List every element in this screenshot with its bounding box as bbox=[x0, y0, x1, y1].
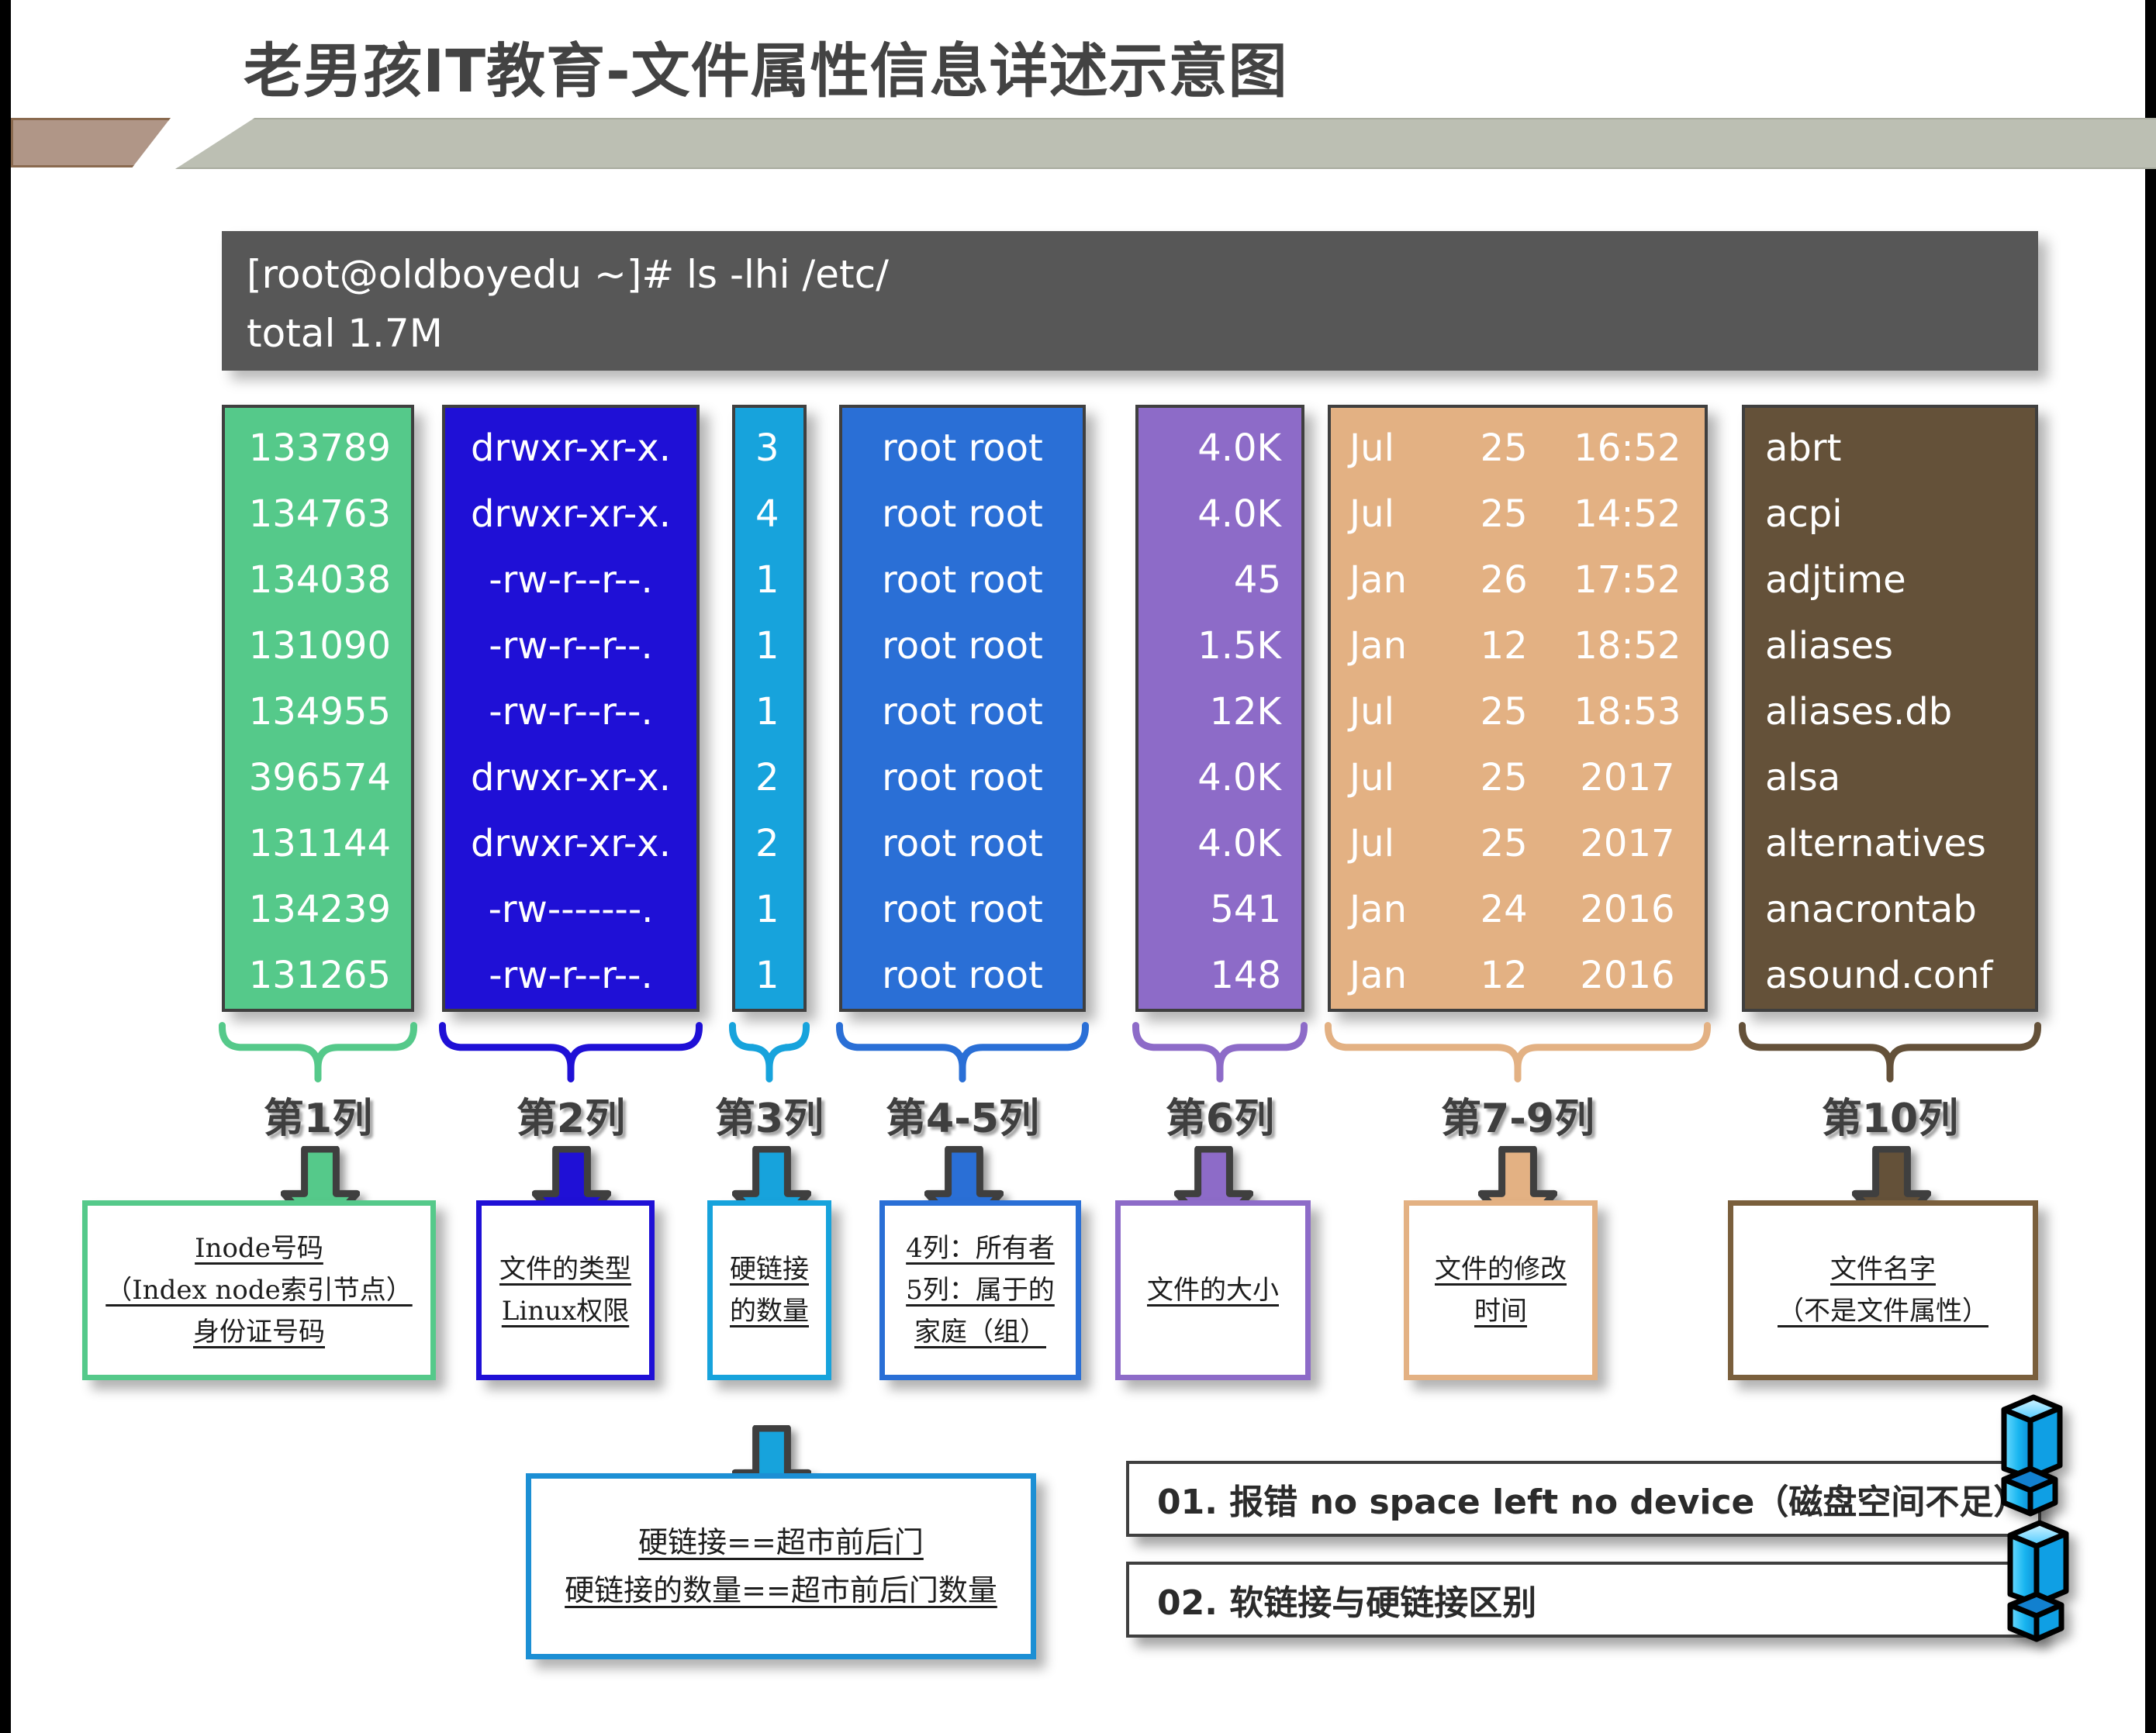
table-row: 4.0K bbox=[1138, 416, 1301, 482]
note-bar-02: 02. 软链接与硬链接区别 bbox=[1126, 1562, 2041, 1638]
table-row: acpi bbox=[1745, 482, 2035, 547]
description-line: 的数量 bbox=[730, 1290, 809, 1332]
caption-col-7-9: 第7-9列 bbox=[1325, 1086, 1711, 1144]
table-row: Jan242016 bbox=[1331, 877, 1705, 943]
exclamation-mark-icon-bottom bbox=[1993, 1520, 2085, 1648]
table-row: Jan2617:52 bbox=[1331, 547, 1705, 613]
exclamation-mark-icon-top bbox=[1987, 1394, 2078, 1522]
table-row: Jul2518:53 bbox=[1331, 679, 1705, 745]
column-block-filename: abrtacpiadjtimealiasesaliases.dbalsaalte… bbox=[1742, 405, 2038, 1012]
table-row: 4.0K bbox=[1138, 482, 1301, 547]
column-block-size: 4.0K4.0K451.5K12K4.0K4.0K541148 bbox=[1135, 405, 1304, 1012]
description-box-filename: 文件名字（不是文件属性） bbox=[1728, 1200, 2038, 1380]
table-row: 1 bbox=[735, 679, 803, 745]
table-row: -rw-r--r--. bbox=[445, 613, 696, 679]
table-row: 134038 bbox=[225, 547, 411, 613]
column-block-permissions: drwxr-xr-x.drwxr-xr-x.-rw-r--r--.-rw-r--… bbox=[442, 405, 700, 1012]
table-row: 1 bbox=[735, 547, 803, 613]
terminal-total: total 1.7M bbox=[247, 304, 2038, 363]
caption-col-10: 第10列 bbox=[1739, 1086, 2041, 1144]
description-line: 硬链接的数量==超市前后门数量 bbox=[565, 1566, 997, 1614]
description-line: 文件的大小 bbox=[1147, 1269, 1279, 1311]
brace-inode bbox=[219, 1022, 417, 1082]
brace-perms bbox=[439, 1022, 703, 1082]
column-block-inode: 1337891347631340381310901349553965741311… bbox=[222, 405, 414, 1012]
table-row: 134955 bbox=[225, 679, 411, 745]
table-row: root root bbox=[842, 679, 1083, 745]
table-row: 131265 bbox=[225, 943, 411, 1009]
table-row: Jul2514:52 bbox=[1331, 482, 1705, 547]
table-row: 4 bbox=[735, 482, 803, 547]
table-row: 396574 bbox=[225, 745, 411, 811]
description-line: 时间 bbox=[1474, 1290, 1527, 1332]
table-row: root root bbox=[842, 811, 1083, 877]
brace-ownergroup bbox=[836, 1022, 1089, 1082]
table-row: root root bbox=[842, 613, 1083, 679]
column-block-linkcount: 341112211 bbox=[732, 405, 807, 1012]
description-box-permissions: 文件的类型Linux权限 bbox=[476, 1200, 655, 1380]
description-line: 身份证号码 bbox=[193, 1311, 325, 1353]
header-band-left-accent bbox=[11, 118, 171, 167]
table-row: aliases bbox=[1745, 613, 2035, 679]
description-line: 5列：属于的 bbox=[906, 1269, 1055, 1311]
table-row: asound.conf bbox=[1745, 943, 2035, 1009]
description-line: 文件名字 bbox=[1830, 1248, 1936, 1290]
table-row: root root bbox=[842, 547, 1083, 613]
column-block-owner-group: root rootroot rootroot rootroot rootroot… bbox=[839, 405, 1086, 1012]
table-row: 134763 bbox=[225, 482, 411, 547]
caption-col-3: 第3列 bbox=[709, 1086, 830, 1144]
table-row: 1 bbox=[735, 877, 803, 943]
table-row: 541 bbox=[1138, 877, 1301, 943]
table-row: anacrontab bbox=[1745, 877, 2035, 943]
table-row: 1 bbox=[735, 943, 803, 1009]
description-line: （Index node索引节点） bbox=[105, 1269, 412, 1311]
table-row: 3 bbox=[735, 416, 803, 482]
caption-col-4-5: 第4-5列 bbox=[836, 1086, 1089, 1144]
table-row: 4.0K bbox=[1138, 811, 1301, 877]
table-row: 131144 bbox=[225, 811, 411, 877]
slide-canvas: 老男孩IT教育-文件属性信息详述示意图 [root@oldboyedu ~]# … bbox=[11, 0, 2145, 1733]
terminal-panel: [root@oldboyedu ~]# ls -lhi /etc/ total … bbox=[222, 231, 2038, 371]
description-box-owner-group: 4列：所有者5列：属于的家庭（组） bbox=[879, 1200, 1081, 1380]
caption-col-6: 第6列 bbox=[1132, 1086, 1308, 1144]
note-bar-01-label: 01. 报错 no space left no device（磁盘空间不足） bbox=[1157, 1474, 2027, 1524]
description-line: 4列：所有者 bbox=[906, 1227, 1055, 1269]
table-row: alsa bbox=[1745, 745, 2035, 811]
table-row: drwxr-xr-x. bbox=[445, 745, 696, 811]
brace-links bbox=[729, 1022, 810, 1082]
table-row: drwxr-xr-x. bbox=[445, 416, 696, 482]
table-row: Jul2516:52 bbox=[1331, 416, 1705, 482]
description-line: 文件的修改 bbox=[1435, 1248, 1567, 1290]
table-row: 12K bbox=[1138, 679, 1301, 745]
description-line: Linux权限 bbox=[502, 1290, 629, 1332]
table-row: -rw-r--r--. bbox=[445, 679, 696, 745]
brace-datetime bbox=[1325, 1022, 1711, 1082]
table-row: -rw-r--r--. bbox=[445, 547, 696, 613]
description-line: 文件的类型 bbox=[499, 1248, 631, 1290]
brace-name bbox=[1739, 1022, 2041, 1082]
brace-size bbox=[1132, 1022, 1308, 1082]
table-row: Jul252017 bbox=[1331, 811, 1705, 877]
table-row: 131090 bbox=[225, 613, 411, 679]
description-box-inode: Inode号码（Index node索引节点）身份证号码 bbox=[82, 1200, 436, 1380]
hardlink-explanation-box: 硬链接==超市前后门硬链接的数量==超市前后门数量 bbox=[526, 1473, 1036, 1659]
table-row: Jul252017 bbox=[1331, 745, 1705, 811]
table-row: 4.0K bbox=[1138, 745, 1301, 811]
table-row: root root bbox=[842, 482, 1083, 547]
note-bar-02-label: 02. 软链接与硬链接区别 bbox=[1157, 1575, 1536, 1624]
header-band-right bbox=[175, 118, 2156, 169]
page-title: 老男孩IT教育-文件属性信息详述示意图 bbox=[244, 23, 1288, 109]
table-row: Jan122016 bbox=[1331, 943, 1705, 1009]
description-line: 硬链接==超市前后门 bbox=[638, 1518, 924, 1566]
table-row: -rw-------. bbox=[445, 877, 696, 943]
description-box-datetime: 文件的修改时间 bbox=[1404, 1200, 1598, 1380]
table-row: -rw-r--r--. bbox=[445, 943, 696, 1009]
table-row: 2 bbox=[735, 811, 803, 877]
table-row: 148 bbox=[1138, 943, 1301, 1009]
description-box-size: 文件的大小 bbox=[1115, 1200, 1311, 1380]
note-bar-01: 01. 报错 no space left no device（磁盘空间不足） bbox=[1126, 1461, 2041, 1537]
terminal-command: [root@oldboyedu ~]# ls -lhi /etc/ bbox=[247, 245, 2038, 304]
table-row: drwxr-xr-x. bbox=[445, 482, 696, 547]
caption-col-2: 第2列 bbox=[439, 1086, 703, 1144]
table-row: 2 bbox=[735, 745, 803, 811]
description-line: （不是文件属性） bbox=[1778, 1290, 1988, 1332]
description-box-linkcount: 硬链接的数量 bbox=[707, 1200, 831, 1380]
table-row: alternatives bbox=[1745, 811, 2035, 877]
table-row: abrt bbox=[1745, 416, 2035, 482]
table-row: drwxr-xr-x. bbox=[445, 811, 696, 877]
table-row: 134239 bbox=[225, 877, 411, 943]
description-line: 硬链接 bbox=[730, 1248, 809, 1290]
table-row: root root bbox=[842, 943, 1083, 1009]
table-row: adjtime bbox=[1745, 547, 2035, 613]
table-row: 133789 bbox=[225, 416, 411, 482]
table-row: aliases.db bbox=[1745, 679, 2035, 745]
table-row: Jan1218:52 bbox=[1331, 613, 1705, 679]
table-row: root root bbox=[842, 745, 1083, 811]
description-line: 家庭（组） bbox=[914, 1311, 1046, 1353]
caption-col-1: 第1列 bbox=[219, 1086, 417, 1144]
table-row: 1.5K bbox=[1138, 613, 1301, 679]
table-row: 1 bbox=[735, 613, 803, 679]
table-row: root root bbox=[842, 416, 1083, 482]
description-line: Inode号码 bbox=[195, 1227, 323, 1269]
table-row: 45 bbox=[1138, 547, 1301, 613]
table-row: root root bbox=[842, 877, 1083, 943]
column-block-datetime: Jul2516:52Jul2514:52Jan2617:52Jan1218:52… bbox=[1328, 405, 1708, 1012]
